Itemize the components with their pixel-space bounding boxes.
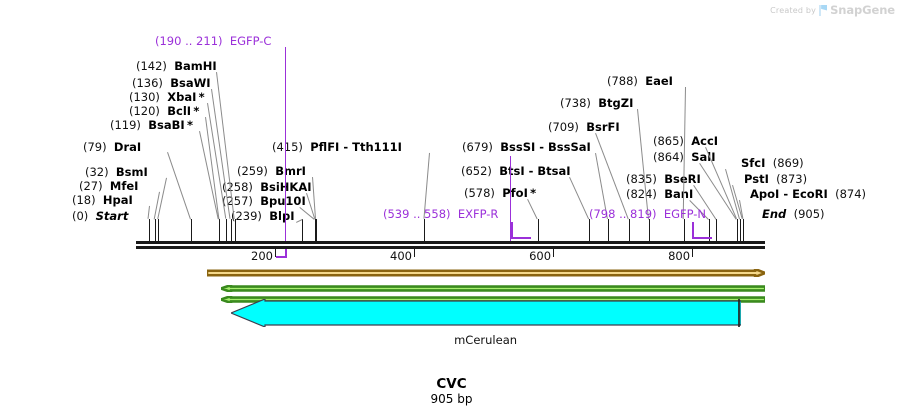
enzyme-name: AccI [691, 134, 718, 148]
enzyme-label: ApoI - EcoRI (874) [750, 188, 866, 200]
enzyme-label: (259) BmrI [237, 165, 306, 177]
enzyme-site-tick [629, 219, 630, 241]
primer-feature-name: EGFP-N [664, 207, 706, 221]
enzyme-label: (835) BseRI [626, 173, 701, 185]
enzyme-site-tick [608, 219, 609, 241]
ruler-tick [692, 249, 693, 257]
enzyme-name: BssSI - BssSaI [500, 140, 591, 154]
primer-feature-name: EXFP-R [458, 207, 499, 221]
enzyme-name: BmrI [275, 164, 306, 178]
enzyme-site-tick [226, 219, 227, 241]
enzyme-site-tick [649, 219, 650, 241]
ruler-tick [553, 249, 554, 257]
enzyme-position: (120) [129, 104, 160, 118]
enzyme-name: ApoI - EcoRI [750, 187, 828, 201]
feature-track-label: mCerulean [231, 333, 741, 347]
primer-feature-bracket [692, 222, 712, 239]
watermark-created-by: Created by [770, 6, 816, 15]
leader-line [527, 199, 538, 219]
enzyme-site-tick [219, 219, 220, 241]
enzyme-name: BtgZI [598, 96, 633, 110]
enzyme-position: (738) [560, 96, 591, 110]
enzyme-position: (130) [129, 90, 160, 104]
enzyme-position: (136) [132, 76, 163, 90]
primer-feature-range: (539 .. 558) [383, 207, 451, 221]
primer-feature-label: (539 .. 558) EXFP-R [383, 208, 498, 220]
enzyme-position: (578) [464, 186, 495, 200]
leader-line [148, 206, 150, 219]
plasmid-length: 905 bp [0, 392, 903, 406]
enzyme-site-tick [538, 219, 539, 241]
enzyme-name: BanI [664, 187, 693, 201]
ruler-tick-label: 800 [666, 249, 690, 263]
enzyme-label: (120) BclI * [129, 105, 199, 117]
enzyme-site-tick [302, 219, 303, 241]
enzyme-name: BlpI [269, 209, 294, 223]
enzyme-position: (239) [231, 209, 262, 223]
star-activity-marker: * [185, 118, 193, 132]
enzyme-site-tick [316, 219, 317, 241]
bracket-horizontal [692, 237, 712, 239]
enzyme-label: (142) BamHI [136, 60, 217, 72]
enzyme-name: XbaI [167, 90, 196, 104]
backbone-line-top [136, 241, 765, 244]
star-activity-marker: * [528, 186, 536, 200]
enzyme-label: (738) BtgZI [560, 97, 633, 109]
end-label: End (905) [762, 208, 825, 220]
enzyme-label: (136) BsaWI [132, 77, 211, 89]
feature-track [221, 277, 765, 284]
enzyme-label: (130) XbaI * [129, 91, 205, 103]
enzyme-position: (652) [461, 164, 492, 178]
ruler-tick [414, 249, 415, 257]
enzyme-label: (578) PfoI * [464, 187, 536, 199]
egfp-c-bracket [276, 249, 287, 258]
enzyme-position: (874) [835, 187, 866, 201]
enzyme-label: (32) BsmI [85, 166, 148, 178]
enzyme-position: (865) [653, 134, 684, 148]
enzyme-label: (788) EaeI [607, 75, 673, 87]
enzyme-name: HpaI [103, 193, 133, 207]
plasmid-map: Created bySnapGene200400600800(18) HpaI(… [0, 0, 903, 415]
enzyme-name: BamHI [174, 59, 216, 73]
ruler-tick-label: 400 [388, 249, 412, 263]
enzyme-site-tick [589, 219, 590, 241]
enzyme-site-tick [155, 219, 156, 241]
enzyme-position: (679) [462, 140, 493, 154]
enzyme-site-tick [740, 219, 741, 241]
enzyme-label: (415) PflFI - Tth111I [272, 141, 402, 153]
start-position: (0) [72, 209, 88, 223]
feature-track [231, 299, 741, 327]
enzyme-position: (415) [272, 140, 303, 154]
enzyme-site-tick [149, 219, 150, 241]
enzyme-position: (869) [773, 156, 804, 170]
enzyme-name: SfcI [741, 156, 765, 170]
snapgene-watermark: Created bySnapGene [770, 3, 895, 17]
enzyme-label: (679) BssSI - BssSaI [462, 141, 591, 153]
ruler-tick-label: 600 [527, 249, 551, 263]
enzyme-label: (652) BtsI - BtsaI [461, 165, 571, 177]
enzyme-label: (18) HpaI [72, 194, 133, 206]
enzyme-position: (835) [626, 172, 657, 186]
end-name: End [762, 207, 786, 221]
enzyme-name: EaeI [645, 74, 673, 88]
bracket-vertical [285, 249, 287, 258]
enzyme-position: (119) [110, 118, 141, 132]
primer-feature-connector [285, 47, 286, 241]
enzyme-label: SfcI (869) [741, 157, 804, 169]
enzyme-name: Bpu10I [260, 194, 305, 208]
mcerulean-right-edge [738, 299, 740, 327]
enzyme-position: (864) [653, 150, 684, 164]
mcerulean-cds-arrow [231, 299, 741, 327]
enzyme-label: (257) Bpu10I [222, 195, 306, 207]
enzyme-position: (788) [607, 74, 638, 88]
star-activity-marker: * [196, 90, 204, 104]
enzyme-site-tick [684, 219, 685, 241]
enzyme-position: (709) [548, 120, 579, 134]
enzyme-label: (79) DraI [83, 141, 141, 153]
enzyme-position: (79) [83, 140, 107, 154]
enzyme-position: (18) [72, 193, 96, 207]
primer-feature-range: (190 .. 211) [155, 34, 223, 48]
enzyme-label: (258) BsiHKAI [222, 181, 312, 193]
leader-line [569, 177, 589, 219]
enzyme-name: BclI [167, 104, 191, 118]
feature-track [207, 262, 765, 270]
bracket-horizontal [511, 237, 531, 239]
snapgene-flag-icon [819, 5, 827, 16]
enzyme-position: (873) [776, 172, 807, 186]
enzyme-site-tick [737, 219, 738, 241]
leader-line [637, 109, 649, 219]
watermark-brand: SnapGene [830, 3, 895, 17]
enzyme-site-tick [743, 219, 744, 241]
enzyme-name: BsmI [116, 165, 148, 179]
enzyme-site-tick [716, 219, 717, 241]
enzyme-name: DraI [114, 140, 141, 154]
primer-feature-name: EGFP-C [230, 34, 272, 48]
enzyme-name: MfeI [110, 179, 139, 193]
start-name: Start [96, 209, 129, 223]
enzyme-position: (824) [626, 187, 657, 201]
enzyme-name: BsaBI [148, 118, 184, 132]
enzyme-name: BsaWI [170, 76, 210, 90]
enzyme-label: (119) BsaBI * [110, 119, 193, 131]
start-label: (0) Start [72, 210, 128, 222]
orange-feature-arrow [207, 269, 765, 277]
primer-feature-bracket [511, 222, 531, 239]
primer-feature-label: (798 .. 819) EGFP-N [589, 208, 706, 220]
enzyme-label: (27) MfeI [79, 180, 138, 192]
end-position: (905) [794, 207, 825, 221]
enzyme-name: PstI [744, 172, 769, 186]
feature-track [221, 288, 765, 295]
enzyme-name: PfoI [502, 186, 528, 200]
enzyme-label: PstI (873) [744, 173, 807, 185]
enzyme-site-tick [158, 219, 159, 241]
enzyme-name: PflFI - Tth111I [310, 140, 402, 154]
star-activity-marker: * [191, 104, 199, 118]
enzyme-site-tick [191, 219, 192, 241]
enzyme-position: (27) [79, 179, 103, 193]
leader-line [167, 152, 191, 219]
primer-feature-label: (190 .. 211) EGFP-C [155, 35, 271, 47]
enzyme-position: (32) [85, 165, 109, 179]
enzyme-label: (865) AccI [653, 135, 718, 147]
ruler-tick-label: 200 [249, 249, 273, 263]
enzyme-site-tick [424, 219, 425, 241]
enzyme-position: (142) [136, 59, 167, 73]
enzyme-position: (259) [237, 164, 268, 178]
primer-feature-range: (798 .. 819) [589, 207, 657, 221]
plasmid-title: CVC [0, 376, 903, 392]
enzyme-name: BsrFI [586, 120, 619, 134]
enzyme-label: (709) BsrFI [548, 121, 620, 133]
